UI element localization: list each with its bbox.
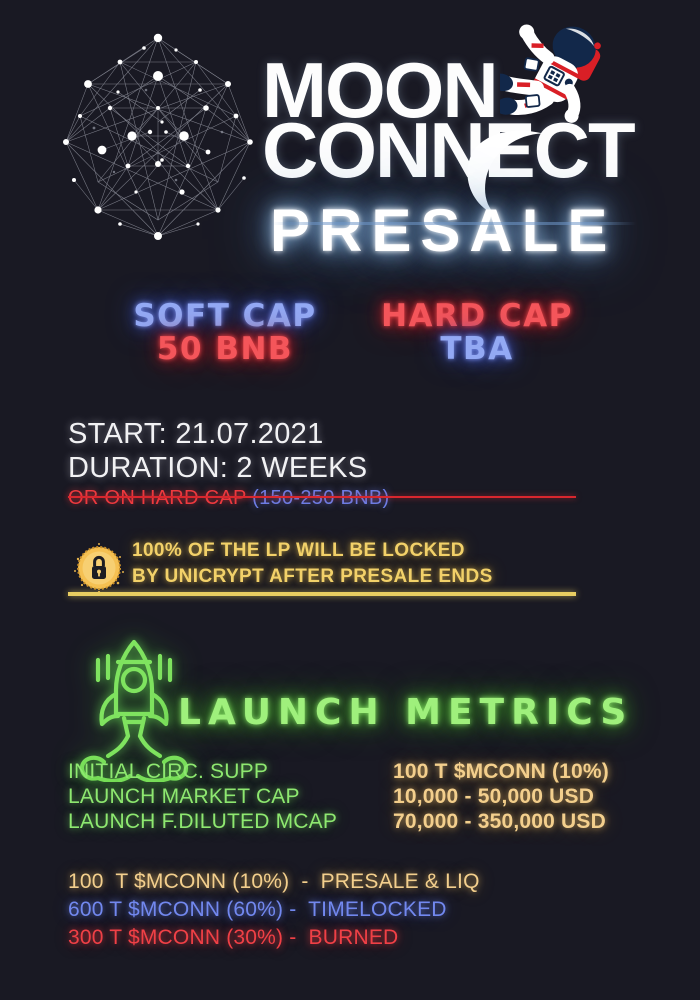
soft-cap-value: 50 BNB (100, 333, 350, 366)
network-sphere-icon (58, 32, 258, 242)
list-item: 100 T $MCONN (10%) - PRESALE & LIQ (68, 870, 648, 898)
gold-divider (68, 592, 576, 596)
wordmark: MOON CONNECT (262, 58, 682, 208)
red-divider (68, 496, 576, 498)
hard-cap-title: HARD CAP (352, 300, 602, 333)
metric-label: LAUNCH MARKET CAP (68, 785, 300, 809)
list-item: 300 T $MCONN (30%) - BURNED (68, 926, 648, 954)
caps-section: SOFT CAP 50 BNB HARD CAP TBA (0, 300, 700, 380)
presale-streak (272, 222, 636, 225)
duration-line: DURATION: 2 WEEKS (68, 452, 628, 486)
hardcap-note-line: OR ON HARD CAP (150-250 BNB) (68, 487, 628, 510)
lock-text: 100% OF THE LP WILL BE LOCKED BY UNICRYP… (132, 538, 493, 589)
metric-value: 10,000 - 50,000 USD (393, 785, 594, 809)
metric-label: LAUNCH F.DILUTED MCAP (68, 810, 337, 834)
soft-cap-title: SOFT CAP (100, 300, 350, 333)
astronaut-icon (500, 18, 620, 138)
hardcap-range-value: (150-250 BNB) (252, 487, 389, 509)
metric-label: INITIAL CIRC. SUPP (68, 760, 268, 784)
start-date-line: START: 21.07.2021 (68, 418, 628, 452)
hardcap-note-text: OR ON HARD CAP (68, 487, 246, 509)
presale-infographic: MOON CONNECT (0, 0, 700, 1000)
lock-coin-icon (72, 541, 126, 595)
table-row: INITIAL CIRC. SUPP 100 T $MCONN (10%) (68, 760, 648, 785)
tokenomics-section: 100 T $MCONN (10%) - PRESALE & LIQ 600 T… (68, 870, 648, 954)
lock-line-1: 100% OF THE LP WILL BE LOCKED (132, 538, 493, 564)
launch-metrics-table: INITIAL CIRC. SUPP 100 T $MCONN (10%) LA… (68, 760, 648, 835)
lock-line-2: BY UNICRYPT AFTER PRESALE ENDS (132, 564, 493, 590)
metric-value: 100 T $MCONN (10%) (393, 760, 609, 784)
list-item: 600 T $MCONN (60%) - TIMELOCKED (68, 898, 648, 926)
presale-subtitle: PRESALE (270, 196, 616, 265)
hard-cap-block: HARD CAP TBA (352, 300, 602, 367)
table-row: LAUNCH MARKET CAP 10,000 - 50,000 USD (68, 785, 648, 810)
logo-header: MOON CONNECT (0, 0, 700, 270)
table-row: LAUNCH F.DILUTED MCAP 70,000 - 350,000 U… (68, 810, 648, 835)
lp-lock-section: 100% OF THE LP WILL BE LOCKED BY UNICRYP… (68, 538, 628, 598)
launch-metrics-title: LAUNCH METRICS (178, 692, 633, 733)
soft-cap-block: SOFT CAP 50 BNB (100, 300, 350, 367)
metric-value: 70,000 - 350,000 USD (393, 810, 606, 834)
hard-cap-value: TBA (352, 333, 602, 366)
